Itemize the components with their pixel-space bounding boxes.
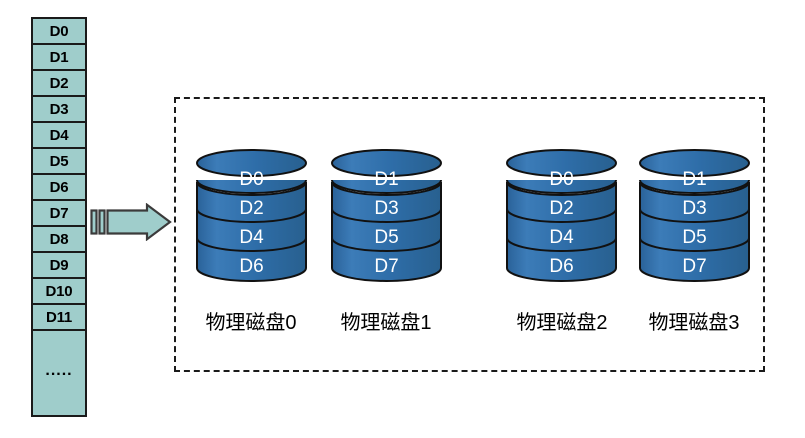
logical-block-ellipsis: ..... — [33, 331, 85, 415]
diagram-canvas: D0 D1 D2 D3 D4 D5 D6 D7 D8 D9 D10 D11 ..… — [0, 0, 805, 438]
disk-caption: 物理磁盘2 — [487, 306, 637, 335]
logical-block: D10 — [33, 279, 85, 305]
disk-caption: 物理磁盘0 — [176, 306, 326, 335]
logical-block: D11 — [33, 305, 85, 331]
physical-disk: D0 D2 D4 D6 — [195, 148, 308, 290]
mapping-arrow-icon — [90, 203, 172, 241]
logical-block: D8 — [33, 227, 85, 253]
logical-block: D0 — [33, 19, 85, 45]
logical-block-sequence: D0 D1 D2 D3 D4 D5 D6 D7 D8 D9 D10 D11 ..… — [31, 17, 87, 417]
physical-disk: D1 D3 D5 D7 — [638, 148, 751, 290]
logical-block: D7 — [33, 201, 85, 227]
physical-disk: D1 D3 D5 D7 — [330, 148, 443, 290]
logical-block: D5 — [33, 149, 85, 175]
disk-caption: 物理磁盘3 — [619, 306, 769, 335]
logical-block: D2 — [33, 71, 85, 97]
logical-block: D4 — [33, 123, 85, 149]
physical-disk: D0 D2 D4 D6 — [505, 148, 618, 290]
logical-block: D9 — [33, 253, 85, 279]
logical-block: D3 — [33, 97, 85, 123]
disk-caption: 物理磁盘1 — [311, 306, 461, 335]
logical-block: D6 — [33, 175, 85, 201]
logical-block: D1 — [33, 45, 85, 71]
